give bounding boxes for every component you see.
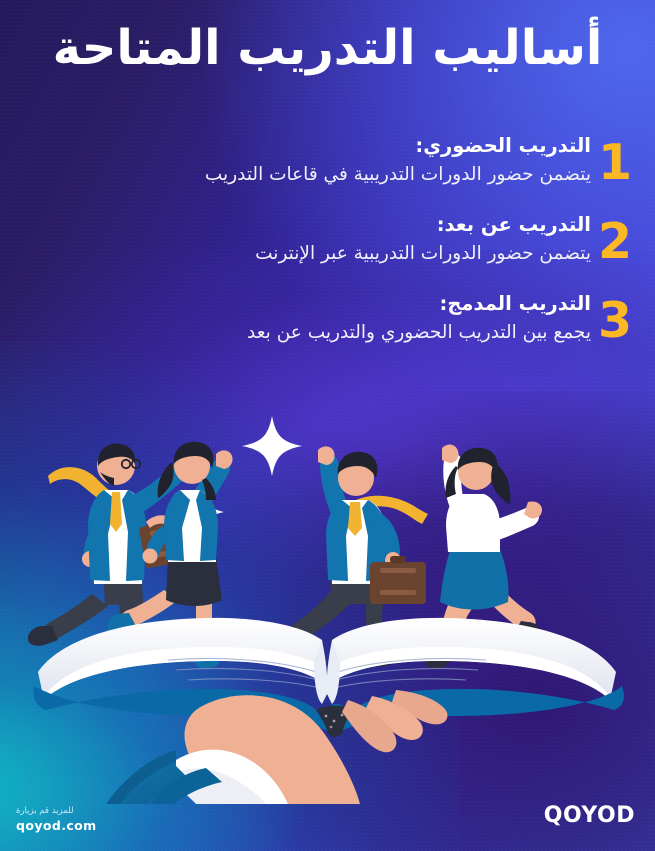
- footer-left: للمزيد قم بزيارة qoyod.com: [16, 805, 97, 833]
- item-description: يتضمن حضور الدورات التدريبية عبر الإنترن…: [40, 240, 591, 268]
- page-title: أساليب التدريب المتاحة: [22, 22, 633, 76]
- infographic-poster: أساليب التدريب المتاحة 1 التدريب الحضوري…: [0, 0, 655, 851]
- illustration-svg: [0, 404, 655, 804]
- item-heading: التدريب المدمج:: [40, 290, 591, 318]
- briefcase-icon: [370, 556, 426, 604]
- item-heading: التدريب عن بعد:: [40, 211, 591, 239]
- methods-list: 1 التدريب الحضوري: يتضمن حضور الدورات ال…: [0, 132, 655, 369]
- list-item: 3 التدريب المدمج: يجمع بين التدريب الحضو…: [40, 290, 637, 347]
- item-description: يجمع بين التدريب الحضوري والتدريب عن بعد: [40, 319, 591, 347]
- footer-url[interactable]: qoyod.com: [16, 818, 97, 833]
- title-block: أساليب التدريب المتاحة: [0, 22, 655, 76]
- item-number-badge: 2: [597, 219, 633, 265]
- list-item: 1 التدريب الحضوري: يتضمن حضور الدورات ال…: [40, 132, 637, 189]
- sparkle-icon: [242, 416, 302, 476]
- item-number-badge: 1: [597, 140, 633, 186]
- open-book: [34, 618, 624, 738]
- footer-cta-text: للمزيد قم بزيارة: [16, 805, 97, 818]
- item-description: يتضمن حضور الدورات التدريبية في قاعات ال…: [40, 161, 591, 189]
- item-number-badge: 3: [597, 298, 633, 344]
- qoyod-logo: QOYOD: [544, 805, 635, 827]
- list-item: 2 التدريب عن بعد: يتضمن حضور الدورات الت…: [40, 211, 637, 268]
- item-heading: التدريب الحضوري:: [40, 132, 591, 160]
- illustration: [0, 404, 655, 804]
- logo-wordmark: QOYOD: [544, 805, 635, 827]
